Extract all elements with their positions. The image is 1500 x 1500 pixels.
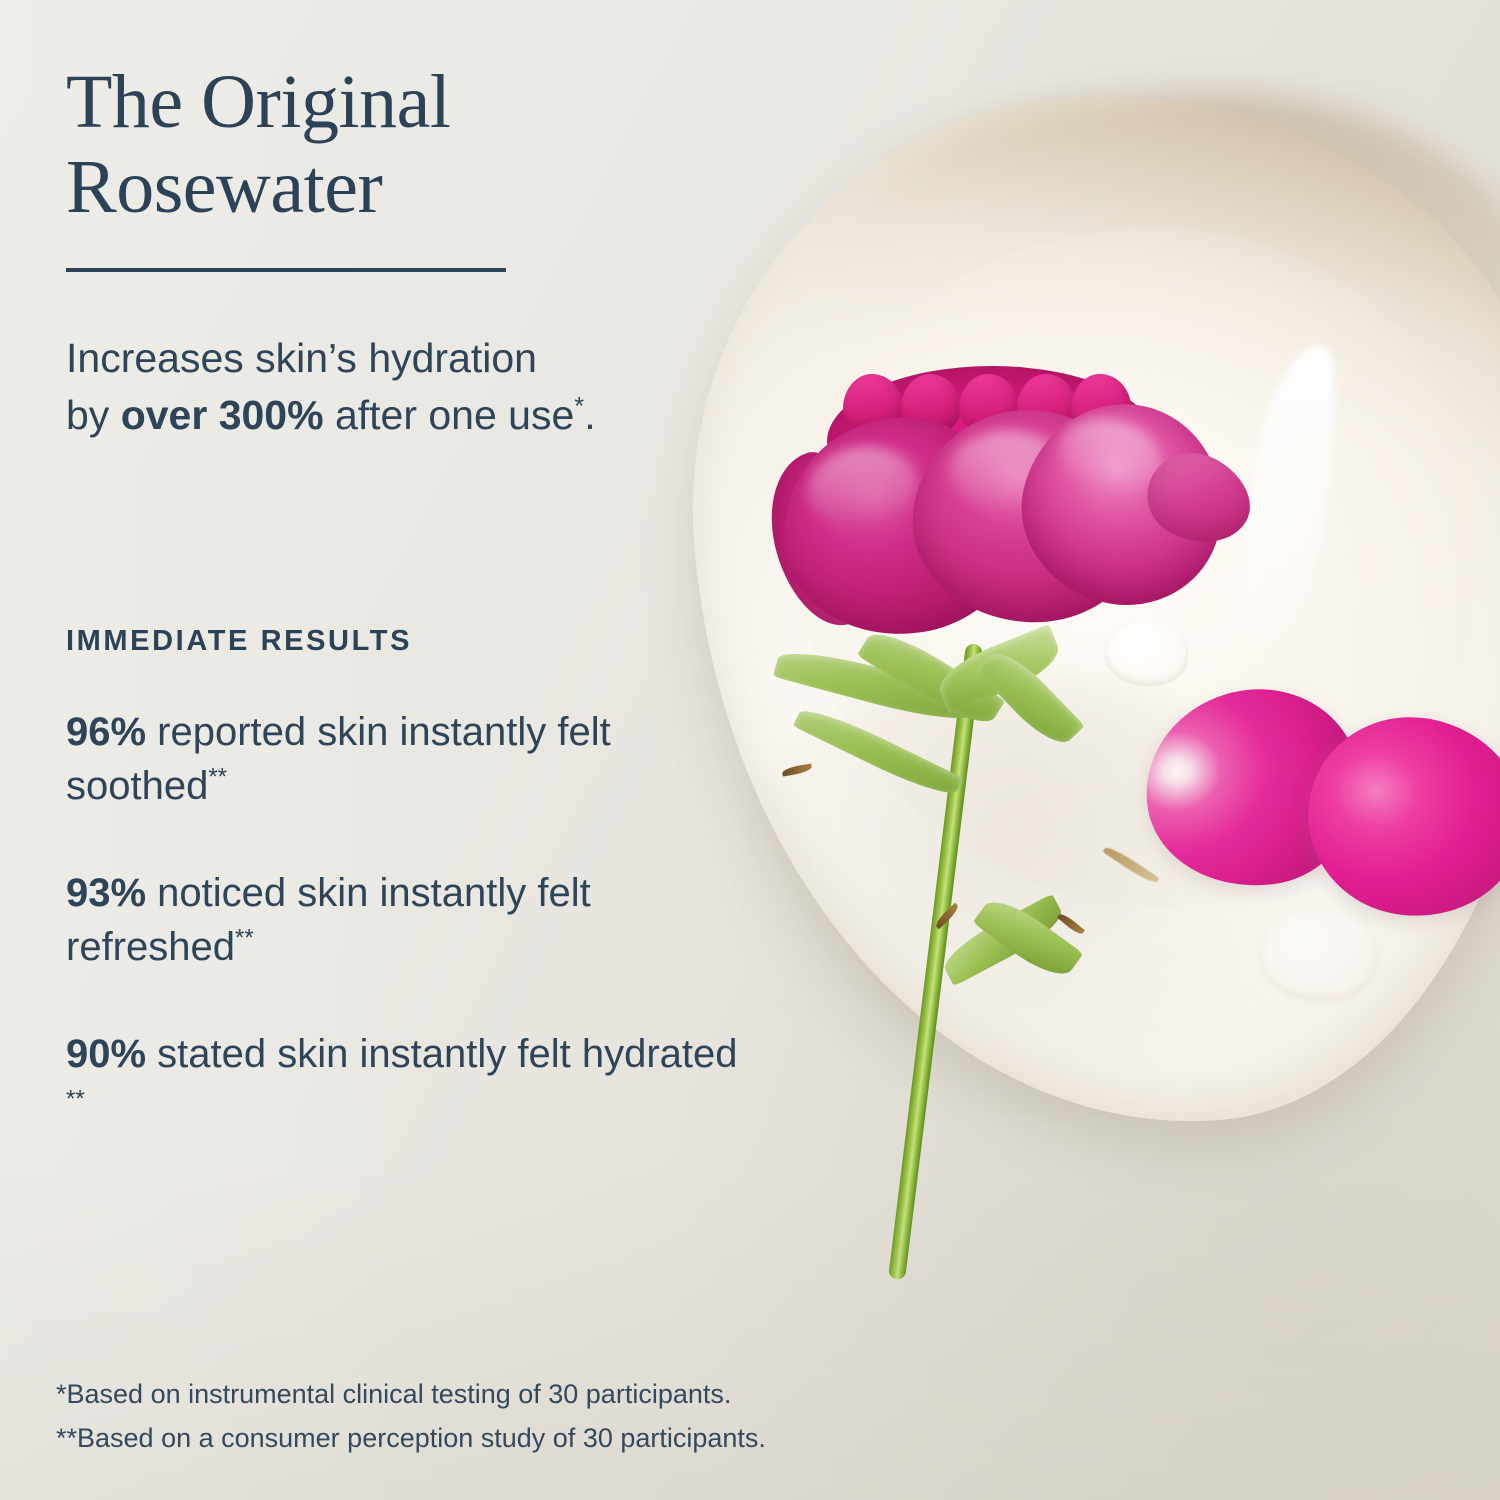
results-section-label: IMMEDIATE RESULTS [66, 625, 412, 658]
hydration-claim: Increases skin’s hydration by over 300% … [66, 330, 786, 443]
title-line-2: Rosewater [66, 145, 382, 229]
rose-bloom [775, 360, 1245, 660]
stat-footnote-marker: ** [235, 924, 254, 951]
petal-highlight [802, 440, 922, 535]
rose-thorn [1057, 911, 1085, 936]
stat-footnote-marker: ** [208, 763, 227, 790]
title-divider [66, 268, 506, 272]
footnote-double-asterisk: **Based on a consumer perception study o… [56, 1416, 766, 1460]
stat-percent: 96% [66, 710, 146, 754]
claim-emphasis: over 300% [121, 392, 324, 438]
list-item: 96% reported skin instantly felt soothed… [66, 706, 766, 813]
claim-period: . [584, 392, 595, 438]
claim-line-1: Increases skin’s hydration [66, 335, 537, 381]
results-list: 96% reported skin instantly felt soothed… [66, 706, 766, 1190]
list-item: 93% noticed skin instantly felt refreshe… [66, 867, 766, 974]
stat-percent: 93% [66, 871, 146, 915]
claim-footnote-marker: * [574, 392, 584, 420]
page-title: The Original Rosewater [66, 60, 666, 230]
title-line-1: The Original [66, 60, 450, 144]
claim-suffix: after one use [324, 392, 575, 438]
stat-text: stated skin instantly felt hydrated [146, 1032, 737, 1076]
stat-footnote-marker: ** [66, 1086, 85, 1113]
stat-percent: 90% [66, 1032, 146, 1076]
rose-stem-group [760, 620, 1220, 1410]
footnote-single-asterisk: *Based on instrumental clinical testing … [56, 1372, 766, 1416]
product-claim-banner: The Original Rosewater Increases skin’s … [0, 0, 1500, 1500]
list-item: 90% stated skin instantly felt hydrated … [66, 1028, 766, 1135]
stat-text: reported skin instantly felt soothed [66, 710, 611, 808]
copy-column: The Original Rosewater Increases skin’s … [0, 0, 760, 1500]
footnotes: *Based on instrumental clinical testing … [56, 1372, 766, 1461]
claim-prefix: by [66, 392, 121, 438]
rose-thorn [782, 763, 813, 776]
